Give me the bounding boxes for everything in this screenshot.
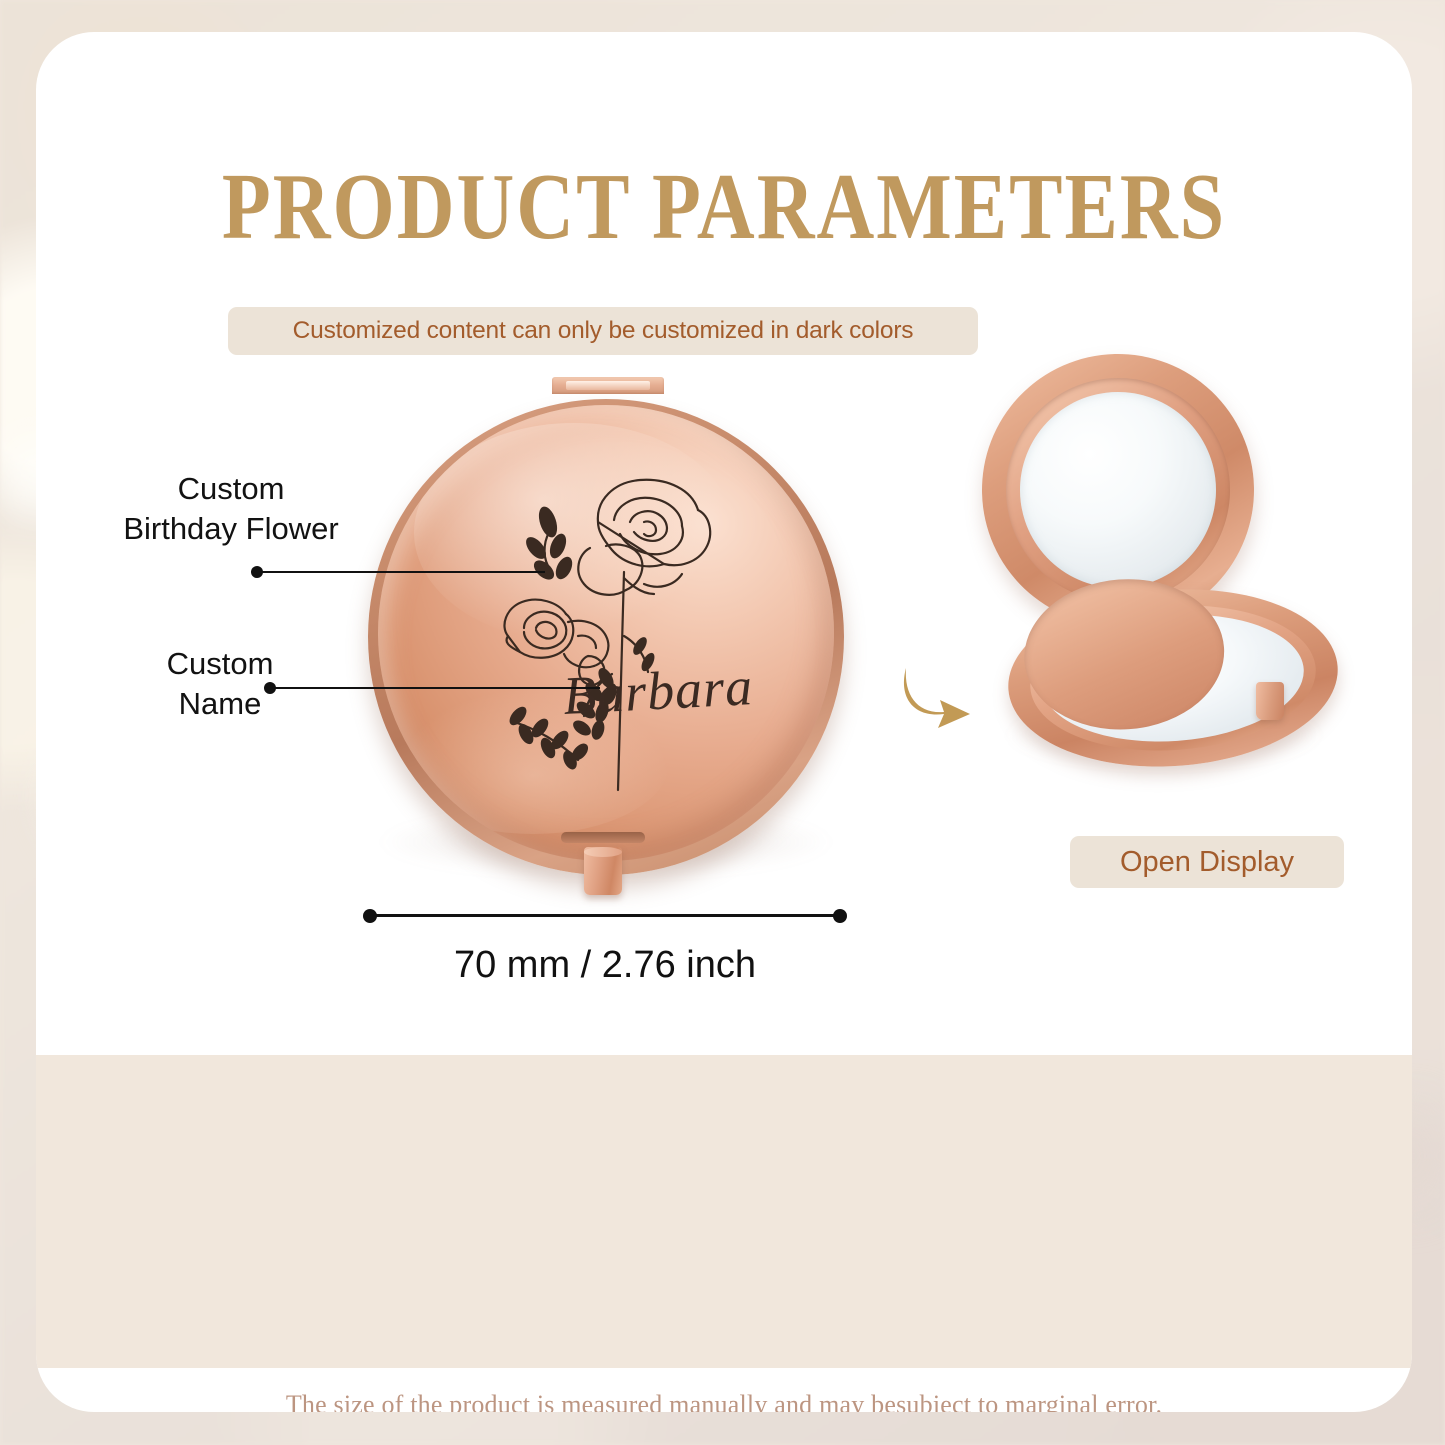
lower-base-inner-ring bbox=[1025, 596, 1320, 760]
content-card: PRODUCT PARAMETERS Customized content ca… bbox=[36, 32, 1412, 1412]
annotation-custom-birthday-flower: Custom Birthday Flower bbox=[88, 469, 374, 548]
open-mirror-clasp-button bbox=[1256, 682, 1284, 720]
mirror-clasp-button bbox=[584, 847, 622, 895]
customization-notice: Customized content can only be customize… bbox=[228, 307, 978, 355]
dimension-line bbox=[370, 914, 840, 917]
open-mirror-product bbox=[976, 352, 1356, 812]
open-display-badge: Open Display bbox=[1070, 836, 1344, 888]
engraved-birth-flower bbox=[448, 460, 778, 810]
annotation-name-line2: Name bbox=[114, 684, 326, 724]
upper-mirror-glass bbox=[1009, 381, 1227, 599]
infographic-stage: PRODUCT PARAMETERS Customized content ca… bbox=[0, 0, 1445, 1445]
leader-line-flower bbox=[257, 571, 545, 573]
mirror-hinge bbox=[552, 377, 664, 394]
customization-notice-text: Customized content can only be customize… bbox=[293, 317, 914, 345]
open-display-label: Open Display bbox=[1120, 846, 1294, 879]
mirror-lid: Barbara bbox=[378, 405, 834, 861]
mirror-clasp-slot bbox=[561, 832, 645, 843]
engraved-custom-name: Barbara bbox=[562, 655, 755, 727]
annotation-flower-line2: Birthday Flower bbox=[88, 509, 374, 549]
leader-line-name bbox=[270, 687, 600, 689]
mirror-rim: Barbara bbox=[368, 399, 844, 875]
page-title: PRODUCT PARAMETERS bbox=[36, 154, 1412, 261]
upper-lid-inner-ring bbox=[993, 365, 1243, 615]
dimension-dot-right bbox=[833, 909, 847, 923]
curved-arrow-icon bbox=[898, 662, 978, 734]
annotation-custom-name: Custom Name bbox=[114, 644, 326, 723]
closed-mirror-product: Barbara bbox=[356, 377, 856, 897]
disclaimer-text: The size of the product is measured manu… bbox=[36, 1390, 1412, 1412]
specs-panel: Series: Cosmetic Mirror Material: Alloy bbox=[36, 1055, 1412, 1368]
annotation-flower-line1: Custom bbox=[88, 469, 374, 509]
annotation-name-line1: Custom bbox=[114, 644, 326, 684]
dimension-label: 70 mm / 2.76 inch bbox=[320, 944, 890, 987]
